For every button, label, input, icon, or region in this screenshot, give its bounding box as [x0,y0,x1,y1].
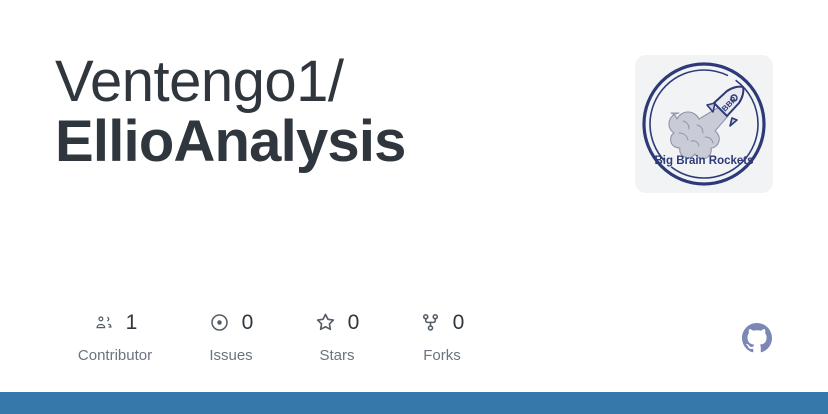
stat-contributors-label: Contributor [78,347,152,364]
bottom-accent-bar [0,392,828,414]
stat-forks[interactable]: 0 Forks [387,308,497,364]
stat-contributors[interactable]: 1 Contributor [55,308,175,364]
stat-stars[interactable]: 0 Stars [287,308,387,364]
stat-issues[interactable]: 0 Issues [175,308,287,364]
github-mark-icon [742,323,772,353]
avatar-caption: Big Brain Rockets [654,155,753,167]
stat-stars-label: Stars [319,347,354,364]
stat-contributors-top: 1 [93,308,138,336]
stat-issues-value: 0 [242,312,254,333]
big-brain-rockets-logo-icon: BBR Big Brain Rockets [635,55,773,193]
stat-stars-top: 0 [315,308,360,336]
page-title: Ventengo1/ EllioAnalysis [55,52,615,174]
people-icon [93,311,115,333]
repo-stats: 1 Contributor 0 Issues [55,308,497,364]
stat-forks-label: Forks [423,347,461,364]
repo-name: EllioAnalysis [55,111,615,174]
avatar: BBR Big Brain Rockets [635,55,773,193]
repo-forked-icon [420,311,442,333]
stat-contributors-value: 1 [126,312,138,333]
stat-issues-top: 0 [209,308,254,336]
stat-issues-label: Issues [209,347,252,364]
stat-forks-top: 0 [420,308,465,336]
repo-owner: Ventengo1/ [55,52,615,111]
star-icon [315,311,337,333]
stat-stars-value: 0 [348,312,360,333]
repository-preview-card: Ventengo1/ EllioAnalysis [0,0,828,414]
issue-opened-icon [209,311,231,333]
stat-forks-value: 0 [453,312,465,333]
